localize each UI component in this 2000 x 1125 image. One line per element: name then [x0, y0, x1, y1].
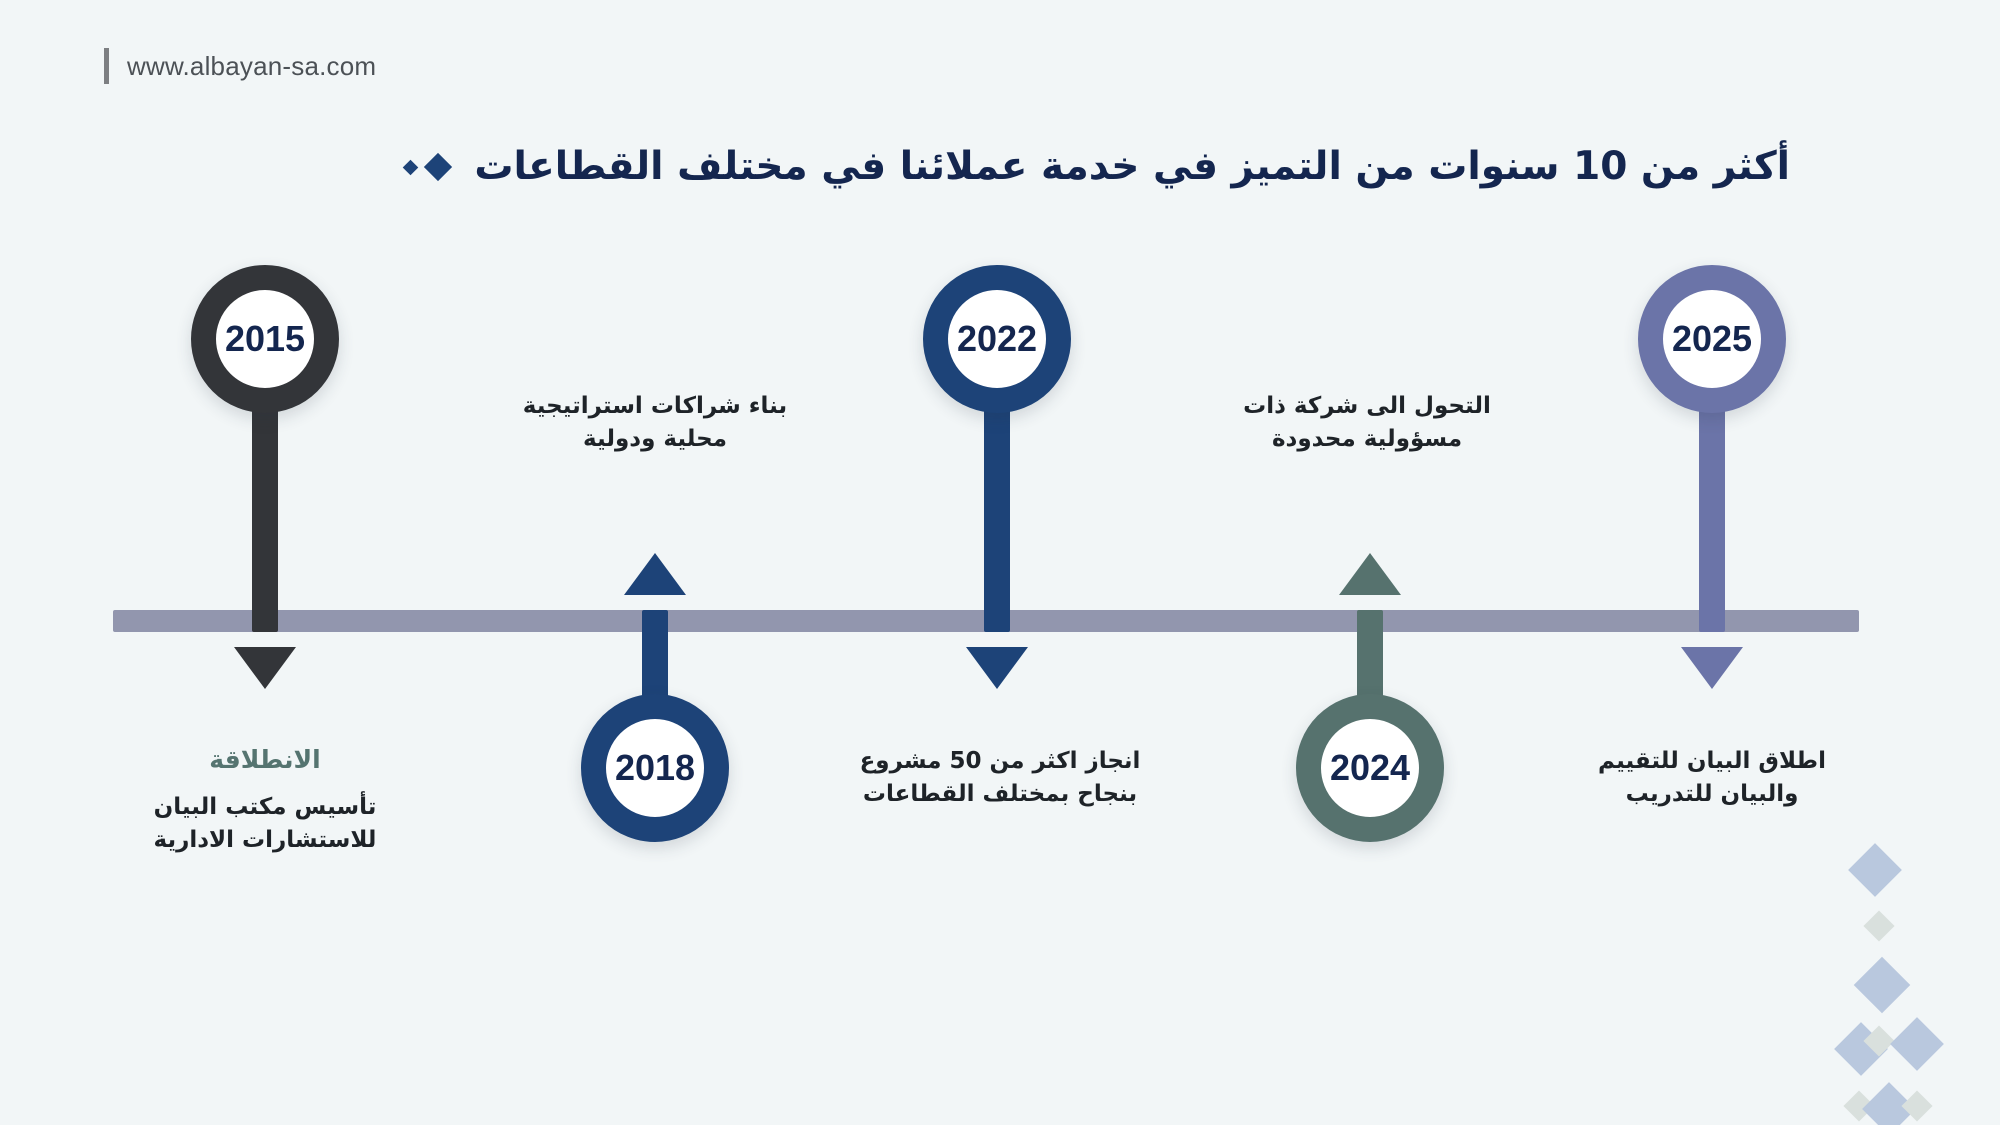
site-url-watermark: www.albayan-sa.com	[104, 48, 376, 84]
milestone-description: التحول الى شركة ذات مسؤولية محدودة	[1217, 390, 1517, 457]
diamond-icon	[1890, 1017, 1944, 1071]
diamond-icon	[1863, 910, 1894, 941]
page-title: أكثر من 10 سنوات من التميز في خدمة عملائ…	[0, 146, 1790, 189]
milestone-year-badge[interactable]: 2022	[923, 265, 1071, 413]
milestone-pointer-triangle	[966, 647, 1028, 689]
milestone-description: بناء شراكات استراتيجية محلية ودولية	[490, 390, 820, 457]
milestone-pointer-triangle	[1339, 553, 1401, 595]
diamond-icon	[1863, 1025, 1894, 1056]
diamond-icon	[1901, 1090, 1932, 1121]
milestone-year-badge[interactable]: 2025	[1638, 265, 1786, 413]
milestone-year-badge[interactable]: 2024	[1296, 694, 1444, 842]
milestone-description: تأسيس مكتب البيان للاستشارات الادارية	[115, 791, 415, 858]
diamond-icon	[1854, 957, 1911, 1014]
milestone-label: اطلاق البيان للتقييم والبيان للتدريب	[1562, 745, 1862, 812]
diamond-icon	[1834, 1022, 1888, 1076]
diamond-icon	[1848, 843, 1902, 897]
accent-bar	[104, 48, 109, 84]
milestone-label: انجاز اكثر من 50 مشروع بنجاح بمختلف القط…	[830, 745, 1170, 812]
milestone-stem	[252, 400, 278, 632]
milestone-stem	[1699, 400, 1725, 632]
milestone-pointer-triangle	[1681, 647, 1743, 689]
milestone-description: انجاز اكثر من 50 مشروع بنجاح بمختلف القط…	[830, 745, 1170, 812]
milestone-year-badge[interactable]: 2018	[581, 694, 729, 842]
site-url-text: www.albayan-sa.com	[127, 51, 376, 82]
diamond-icon	[1843, 1090, 1874, 1121]
milestone-year-label: 2015	[225, 318, 305, 360]
milestone-label: بناء شراكات استراتيجية محلية ودولية	[490, 390, 820, 457]
diamond-icon	[424, 153, 452, 181]
milestone-label: التحول الى شركة ذات مسؤولية محدودة	[1217, 390, 1517, 457]
milestone-pointer-triangle	[624, 553, 686, 595]
milestone-kicker: الانطلاقة	[115, 745, 415, 775]
infographic-canvas: www.albayan-sa.com أكثر من 10 سنوات من ا…	[0, 0, 2000, 1125]
decorative-diamond-pattern	[1770, 845, 2000, 1125]
milestone-label: الانطلاقةتأسيس مكتب البيان للاستشارات ال…	[115, 745, 415, 858]
milestone-year-label: 2025	[1672, 318, 1752, 360]
milestone-year-badge[interactable]: 2015	[191, 265, 339, 413]
milestone-year-label: 2022	[957, 318, 1037, 360]
diamond-icon	[403, 160, 419, 176]
page-title-text: أكثر من 10 سنوات من التميز في خدمة عملائ…	[474, 146, 1790, 189]
milestone-year-label: 2018	[615, 747, 695, 789]
milestone-stem	[984, 400, 1010, 632]
milestone-description: اطلاق البيان للتقييم والبيان للتدريب	[1562, 745, 1862, 812]
diamond-icon	[1862, 1082, 1916, 1125]
diamond-accent-group	[405, 157, 448, 177]
milestone-pointer-triangle	[234, 647, 296, 689]
milestone-year-label: 2024	[1330, 747, 1410, 789]
